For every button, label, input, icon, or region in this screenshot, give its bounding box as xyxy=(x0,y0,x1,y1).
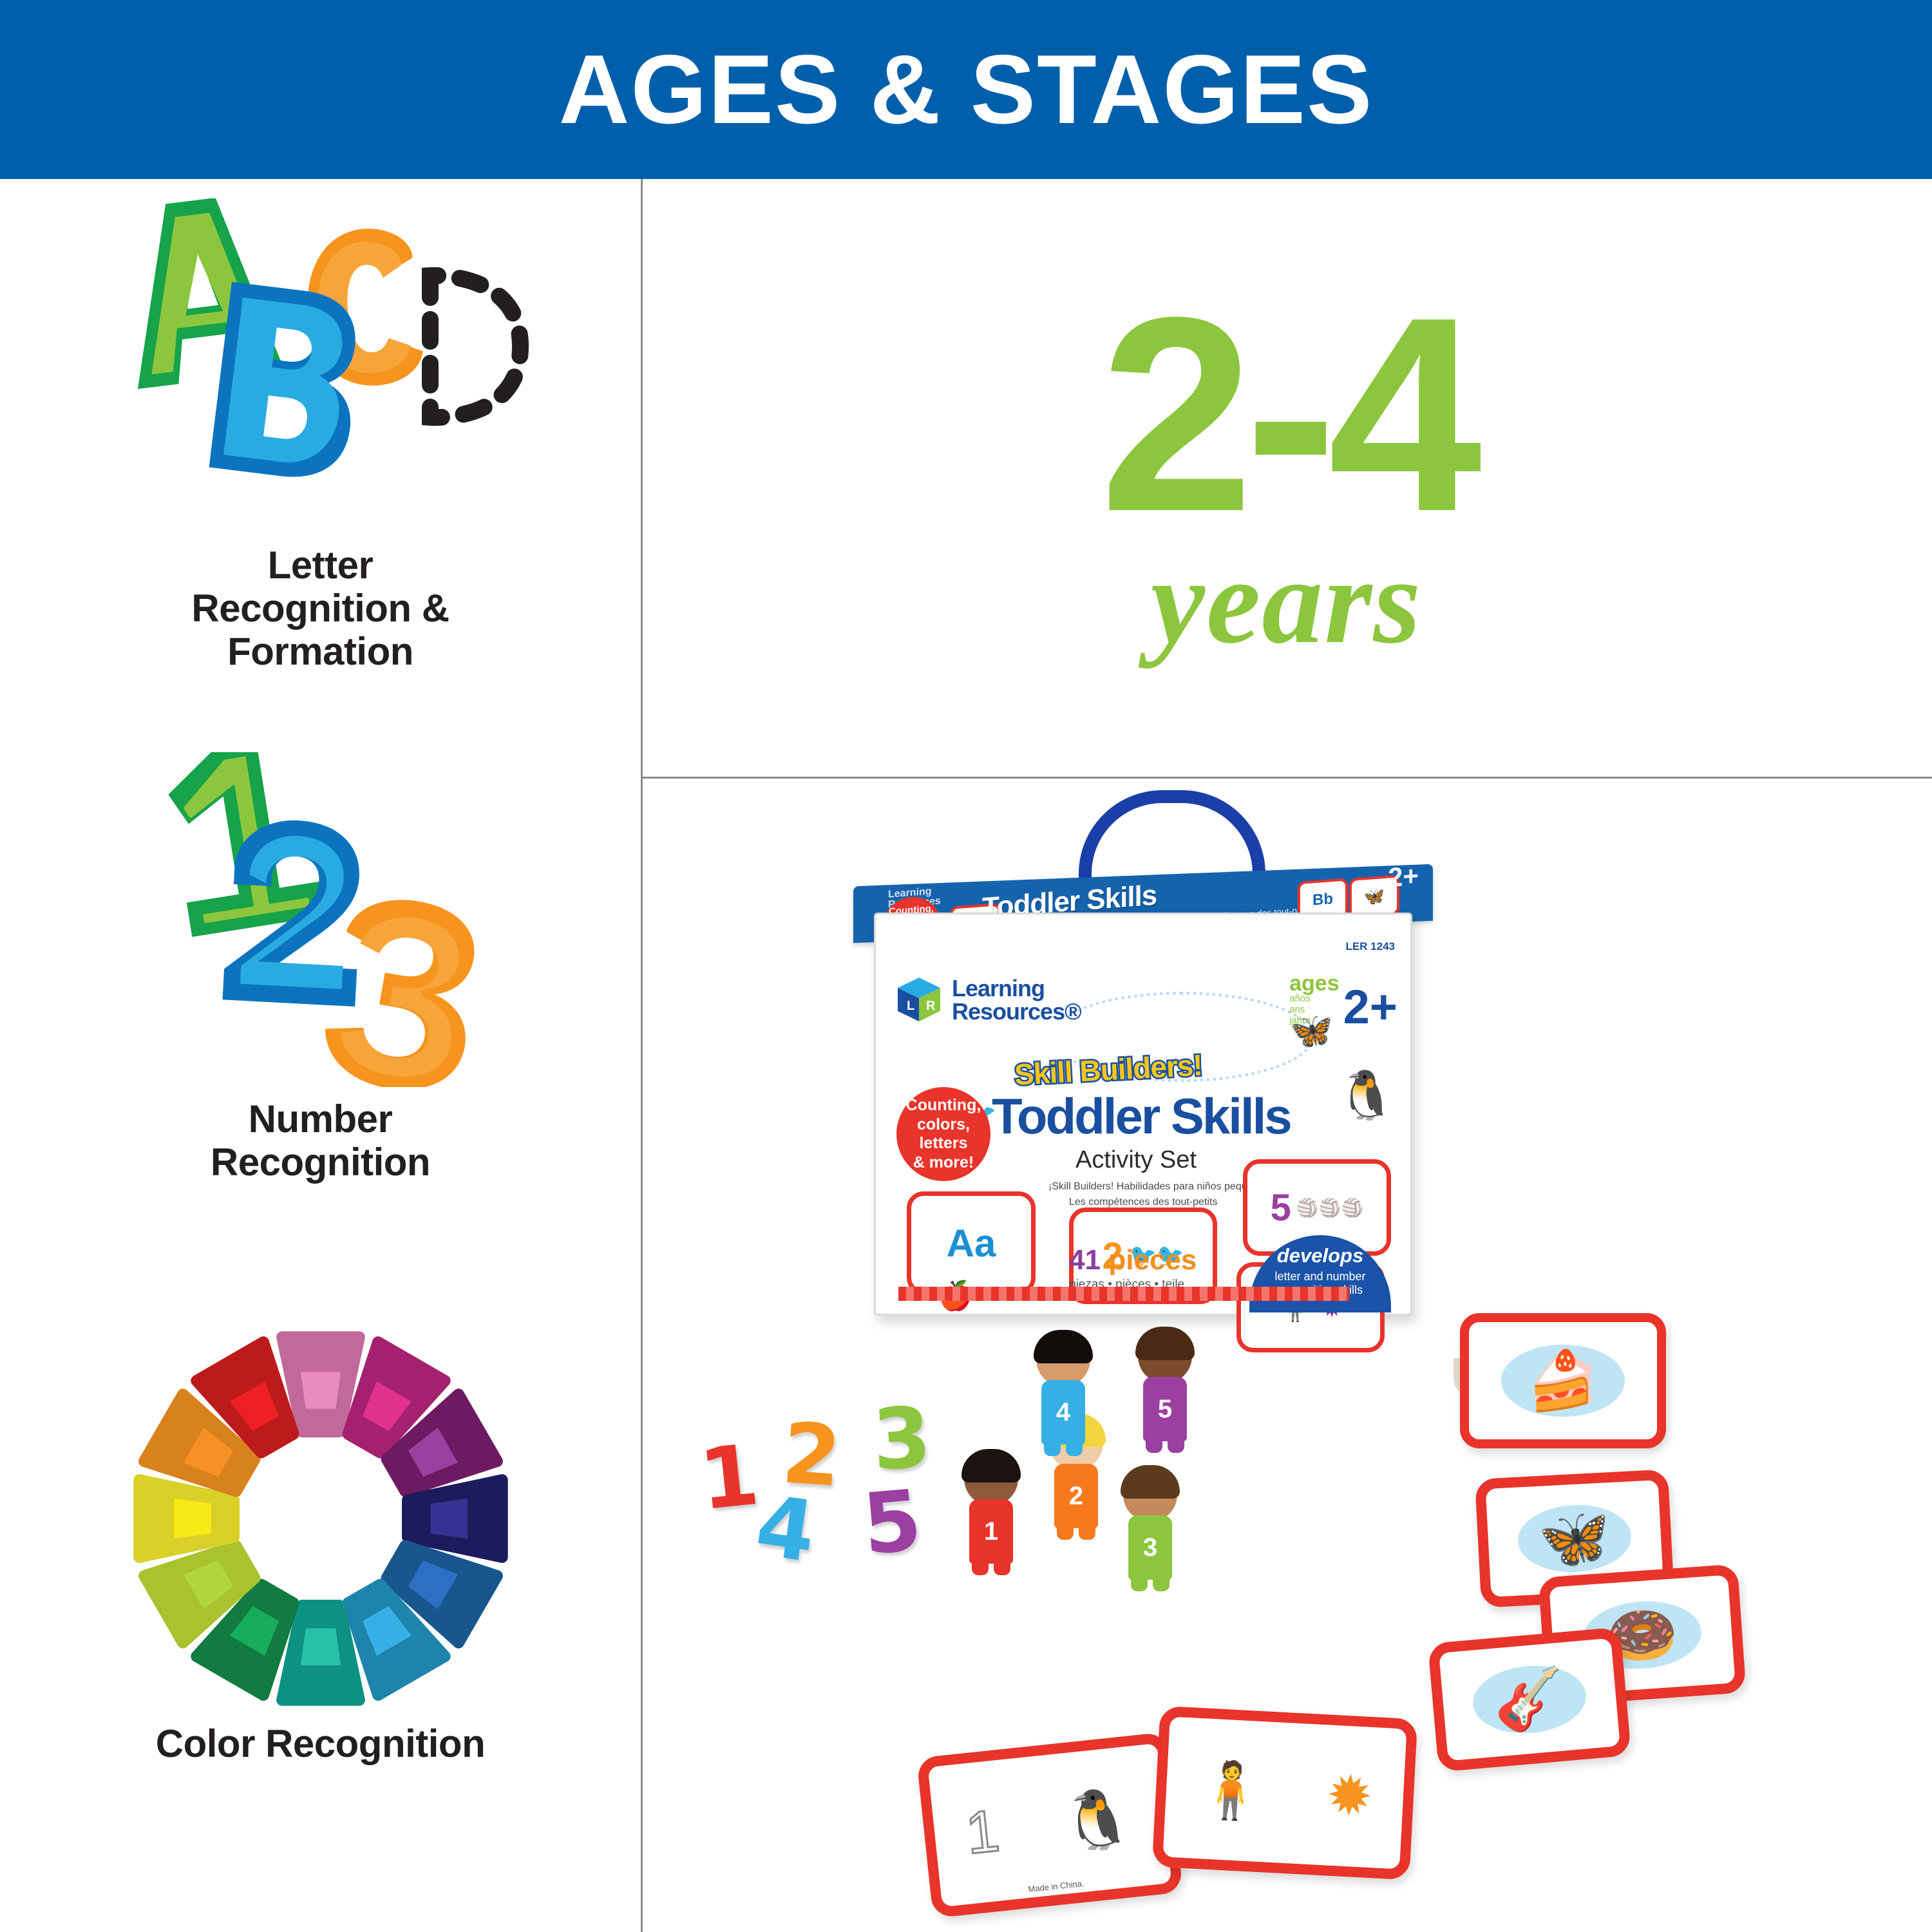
ages-word: ages xyxy=(1289,974,1340,994)
learning-resources-cube-icon: L R xyxy=(895,976,943,1024)
figure-hair xyxy=(1135,1327,1195,1360)
pieces-count-block: 41 pieces piezas • pièces • teile xyxy=(1069,1244,1197,1292)
picture-card-guitar: 🎸 xyxy=(1428,1627,1631,1772)
number-toy-3: 3 xyxy=(871,1396,933,1482)
age-range-unit: years xyxy=(1151,540,1423,663)
card-face: 🧍 ✹ xyxy=(1163,1717,1407,1870)
pieces-count: 41 xyxy=(1069,1244,1101,1276)
skill-label-line: Letter xyxy=(191,544,449,587)
figure-body: 5 xyxy=(1143,1377,1187,1441)
skill-builders-title: Skill Builders! xyxy=(1014,1047,1203,1092)
box-bottom-stripe xyxy=(898,1287,1349,1301)
picture-card-penguin-one: 1 🐧 Made in China. xyxy=(916,1732,1183,1918)
figure-leg-left xyxy=(1057,1519,1074,1540)
color-wheel-segment-inner-indigo xyxy=(430,1499,468,1539)
product-subtitle: Activity Set xyxy=(1075,1146,1197,1174)
skill-block-color-recognition: Color Recognition xyxy=(0,1325,641,1765)
penguin-icon: 🐧 xyxy=(1337,1068,1396,1124)
localized-line-1: ¡Skill Builders! Habilidades para niños … xyxy=(1048,1181,1269,1193)
box-card-five-label: 5 xyxy=(1271,1186,1291,1229)
number-toy-5: 5 xyxy=(860,1478,925,1566)
splat-icon: ✹ xyxy=(1325,1763,1374,1830)
abc-letters-icon xyxy=(76,198,565,533)
number-toy-4: 4 xyxy=(751,1483,820,1574)
skill-label-line: Recognition & xyxy=(191,587,449,630)
svg-text:R: R xyxy=(926,999,936,1013)
color-wheel-icon xyxy=(128,1325,514,1712)
skills-column: Letter Recognition & Formation xyxy=(0,179,641,1932)
figure-toy-3: 3 xyxy=(1114,1468,1186,1590)
product-title: Toddler Skills xyxy=(992,1087,1291,1146)
butterfly-icon: 🦋 xyxy=(1537,1503,1612,1575)
number-outline-1: 1 xyxy=(963,1797,1003,1868)
skill-block-letter-recognition: Letter Recognition & Formation xyxy=(0,198,641,674)
card-face: 🎸 xyxy=(1439,1638,1620,1761)
develops-word: develops xyxy=(1249,1244,1391,1267)
figure-body: 2 xyxy=(1054,1464,1098,1528)
figure-leg-right xyxy=(1153,1571,1170,1591)
color-wheel-segment-inner-yellow xyxy=(174,1499,211,1539)
number-toy-1: 1 xyxy=(696,1433,762,1522)
figure-leg-right xyxy=(1079,1519,1095,1540)
123-numbers-icon xyxy=(115,752,527,1087)
figure-leg-left xyxy=(1131,1571,1148,1591)
beachball-icon: 🏐🏐🏐 xyxy=(1296,1197,1364,1218)
figure-leg-left xyxy=(972,1555,989,1575)
color-wheel-segment-inner-teal xyxy=(300,1628,340,1665)
develops-badge: develops letter and numberrecognition sk… xyxy=(1249,1235,1391,1312)
figure-toy-1: 1 xyxy=(955,1452,1027,1574)
skill-label-line: Recognition xyxy=(211,1141,430,1184)
figure-leg-right xyxy=(994,1555,1010,1575)
skill-label-number-recognition: Number Recognition xyxy=(211,1097,430,1184)
figure-leg-left xyxy=(1146,1432,1162,1453)
figure-toy-5: 5 xyxy=(1129,1329,1201,1452)
figure-leg-right xyxy=(1168,1432,1184,1453)
color-wheel-segment-inner-pink xyxy=(300,1372,340,1409)
brand-name: Learning Resources® xyxy=(952,977,1081,1023)
penguin-icon: 🐧 xyxy=(1058,1783,1137,1857)
product-box: LearningResources Counting, colors, lett… xyxy=(853,875,1433,1313)
page-title: AGES & STAGES xyxy=(559,41,1374,138)
skill-label-color-recognition: Color Recognition xyxy=(156,1722,485,1765)
brand-lockup: L R Learning Resources® xyxy=(895,976,1081,1024)
box-front-face: L R Learning Resources® LER 1243 ages añ… xyxy=(874,913,1412,1316)
product-photo-panel: LearningResources Counting, colors, lett… xyxy=(641,779,1932,1932)
brand-line-1: Learning xyxy=(952,977,1081,1000)
ler-item-code: LER 1243 xyxy=(1345,940,1395,953)
figure-leg-left xyxy=(1044,1435,1061,1456)
card-face: 🍰 xyxy=(1469,1322,1657,1439)
figure-body: 4 xyxy=(1041,1380,1085,1444)
guitar-icon: 🎸 xyxy=(1491,1663,1569,1736)
figure-body: 3 xyxy=(1128,1515,1172,1580)
skill-label-letter-recognition: Letter Recognition & Formation xyxy=(191,544,449,674)
figure-hair xyxy=(961,1449,1021,1482)
cake-icon: 🍰 xyxy=(1527,1347,1599,1415)
figure-toy-4: 4 xyxy=(1027,1332,1099,1455)
ages-and-stages-infographic: AGES & STAGES xyxy=(0,0,1932,1932)
pieces-word: pieces xyxy=(1108,1244,1197,1276)
figure-hair xyxy=(1121,1465,1180,1499)
skill-label-line: Number xyxy=(211,1097,430,1141)
localized-line-2: Les compétences des tout-petits xyxy=(1069,1197,1217,1208)
person-outline-icon: 🧍 xyxy=(1195,1756,1267,1824)
card-stack-top: 🍰 xyxy=(1460,1313,1666,1448)
svg-text:L: L xyxy=(907,999,914,1013)
skill-label-line: Color Recognition xyxy=(156,1722,485,1765)
lid-age-badge: 2+ xyxy=(1388,860,1419,894)
butterfly-icon: 🦋 xyxy=(1290,1011,1333,1052)
age-range-panel: 2-4 years xyxy=(641,179,1932,777)
figure-hair xyxy=(1034,1330,1093,1363)
age-range-value: 2-4 xyxy=(1100,293,1473,536)
box-card-aa-label: Aa xyxy=(947,1221,996,1265)
red-burst-badge: Counting,colors,letters& more! xyxy=(896,1087,990,1181)
figure-leg-right xyxy=(1066,1435,1083,1456)
skill-block-number-recognition: Number Recognition xyxy=(0,752,641,1184)
picture-card-person-splat: 🧍 ✹ xyxy=(1152,1706,1418,1880)
figure-body: 1 xyxy=(969,1499,1013,1564)
brand-line-2: Resources® xyxy=(952,1000,1081,1023)
header-banner: AGES & STAGES xyxy=(0,0,1932,179)
ages-value: 2+ xyxy=(1343,988,1397,1026)
skill-label-line: Formation xyxy=(191,630,449,673)
